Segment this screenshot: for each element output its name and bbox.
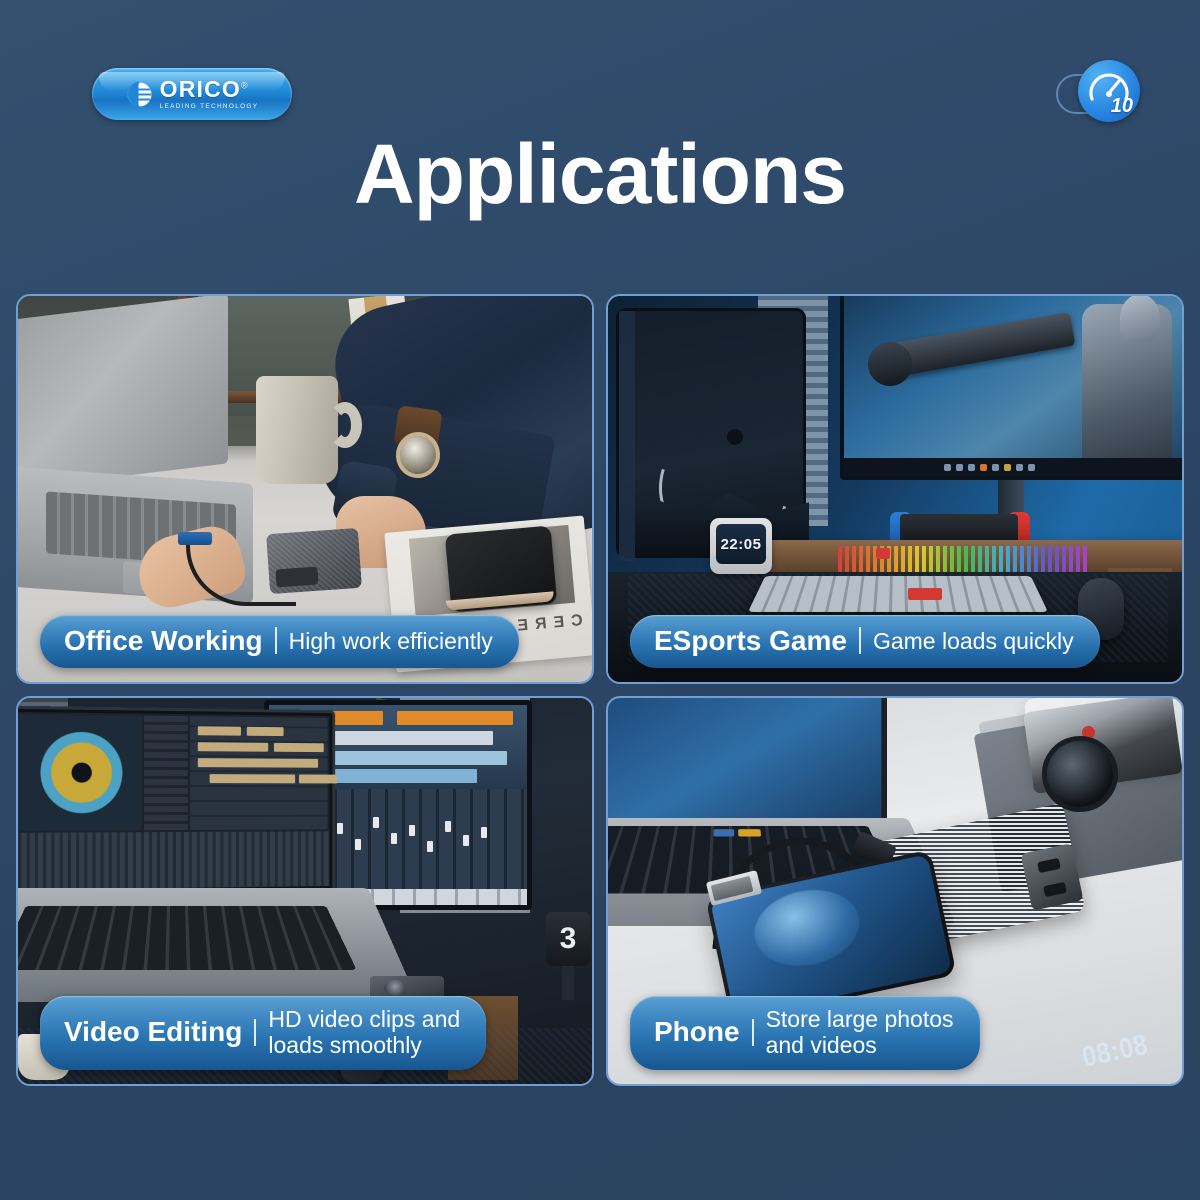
orico-logo: ORICO® LEADING TECHNOLOGY: [92, 68, 292, 120]
caption-separator: [254, 1019, 256, 1046]
mechanical-keyboard: [748, 576, 1048, 612]
caption-title: ESports Game: [654, 625, 847, 657]
caption-phone: Phone Store large photos and videos: [630, 996, 980, 1070]
caption-video-editing: Video Editing HD video clips and loads s…: [40, 996, 486, 1070]
caption-title: Phone: [654, 1016, 740, 1048]
speedometer-icon: 10: [1078, 60, 1140, 122]
panel-esports-game[interactable]: 22:05 ESports Game Game loads quickly: [606, 294, 1184, 684]
logo-tagline: LEADING TECHNOLOGY: [160, 104, 259, 110]
flip-clock: 3: [546, 912, 590, 966]
color-wheel: [18, 714, 142, 831]
caption-esports-game: ESports Game Game loads quickly: [630, 615, 1100, 668]
caption-title: Video Editing: [64, 1016, 242, 1048]
orico-wordmark: ORICO® LEADING TECHNOLOGY: [160, 78, 259, 110]
logo-word: ORICO®: [160, 78, 249, 101]
editing-laptop-screen: [18, 706, 335, 897]
caption-description: HD video clips and loads smoothly: [268, 1006, 460, 1059]
caption-separator: [859, 627, 861, 654]
caption-description: High work efficiently: [289, 628, 493, 655]
orico-globe-icon: [126, 81, 153, 108]
caption-description: Store large photos and videos: [766, 1006, 954, 1059]
applications-grid: CEREAL Office Working High work efficien…: [16, 294, 1184, 1094]
panel-phone[interactable]: 08:08 Phone Store large photos and video…: [606, 696, 1184, 1086]
badge-value: 10: [1111, 96, 1133, 116]
page-header: ORICO® LEADING TECHNOLOGY 10 Application…: [0, 0, 1200, 140]
page-title: Applications: [0, 132, 1200, 216]
applications-page: ORICO® LEADING TECHNOLOGY 10 Application…: [0, 0, 1200, 1200]
registered-mark: ®: [241, 80, 249, 90]
caption-separator: [752, 1019, 754, 1046]
panel-office-working[interactable]: CEREAL Office Working High work efficien…: [16, 294, 594, 684]
caption-office-working: Office Working High work efficiently: [40, 615, 519, 668]
caption-description: Game loads quickly: [873, 628, 1074, 655]
caption-title: Office Working: [64, 625, 263, 657]
panel-video-editing[interactable]: 3 Video Editing HD video clips and loads…: [16, 696, 594, 1086]
desk-clock-time: 22:05: [721, 536, 762, 553]
desk-clock-face: 22:05: [716, 524, 766, 564]
speed-badge: 10: [1056, 60, 1140, 126]
caption-separator: [275, 627, 277, 654]
